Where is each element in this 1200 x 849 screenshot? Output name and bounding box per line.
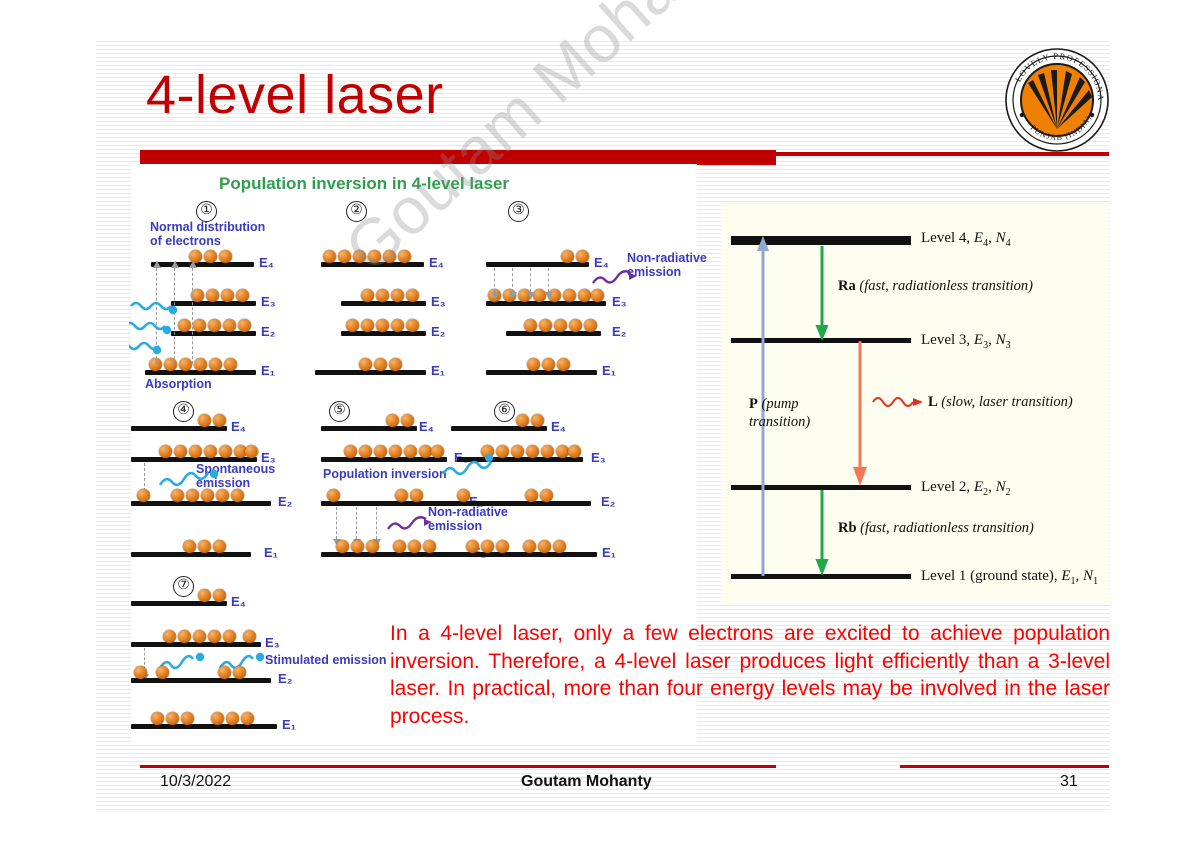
- level-label-E1: E₁: [602, 545, 616, 560]
- level4-label: Level 4, E4, N4: [921, 230, 1011, 249]
- level-label-E1: E₁: [264, 545, 278, 560]
- panel-number-6: ⑥: [494, 401, 515, 422]
- panel5-annotation-non-radiative: Non-radiativeemission: [428, 505, 508, 534]
- level-label-E3: E₃: [591, 450, 606, 465]
- slide: 4-level laser LOVELY PROF: [0, 0, 1200, 849]
- level-label-E4: E₄: [231, 594, 246, 609]
- level-label-E3: E₃: [612, 294, 627, 309]
- level3-bar: [731, 338, 911, 343]
- energy-bar-E4: [151, 262, 254, 267]
- panel-number-3: ③: [508, 201, 529, 222]
- level-label-E4: E₄: [429, 255, 444, 270]
- energy-bar-E4: [131, 601, 227, 606]
- footer-rule-right: [900, 765, 1109, 768]
- four-level-energy-diagram: Level 4, E4, N4 Level 3, E3, N3 Level 2,…: [721, 202, 1109, 604]
- level2-bar: [731, 485, 911, 490]
- panel1-annotation-normal-distribution: Normal distributionof electrons: [150, 220, 265, 249]
- energy-bar-E4: [131, 426, 227, 431]
- absorption-photon-arrows: [129, 294, 207, 374]
- level-label-E2: E₂: [601, 494, 615, 509]
- energy-bar-E2: [131, 678, 271, 683]
- panel-number-5: ⑤: [329, 401, 350, 422]
- panel5-annotation-population-inversion: Population inversion: [323, 467, 447, 481]
- energy-bar-E1: [131, 724, 277, 729]
- level-label-E3: E₃: [265, 635, 280, 650]
- level-label-E4: E₄: [419, 419, 434, 434]
- level-label-E3: E₃: [431, 294, 446, 309]
- non-radiative-arrow: [386, 513, 434, 535]
- page-title: 4-level laser: [146, 68, 444, 122]
- level-label-E4: E₄: [551, 419, 566, 434]
- level-label-E2: E₂: [278, 494, 292, 509]
- title-underline-thick: [140, 150, 776, 165]
- energy-bar-E4: [321, 426, 417, 431]
- level-label-E3: E₃: [261, 294, 276, 309]
- level-label-E4: E₄: [259, 255, 274, 270]
- transition-label-laser: L (slow, laser transition): [928, 394, 1073, 411]
- energy-bar-E2: [451, 501, 591, 506]
- footer-date: 10/3/2022: [160, 773, 231, 791]
- footer-rule-left: [140, 765, 776, 768]
- explanatory-paragraph: In a 4-level laser, only a few electrons…: [390, 620, 1110, 731]
- level-label-E4: E₄: [231, 419, 246, 434]
- level2-label: Level 2, E2, N2: [921, 479, 1011, 498]
- energy-bar-E4: [451, 426, 547, 431]
- level-label-E2: E₂: [612, 324, 626, 339]
- transition-label-rb: Rb (fast, radiationless transition): [838, 520, 1034, 537]
- energy-bar-E3: [131, 642, 261, 647]
- panel-number-7: ⑦: [173, 576, 194, 597]
- footer-page-number: 31: [1060, 773, 1078, 791]
- level-label-E2: E₂: [431, 324, 445, 339]
- level-label-E1: E₁: [282, 717, 296, 732]
- panel1-annotation-absorption: Absorption: [145, 377, 212, 391]
- level3-label: Level 3, E3, N3: [921, 332, 1011, 351]
- level4-bar: [731, 236, 911, 245]
- transition-label-pump: P (pumptransition): [749, 395, 810, 431]
- university-logo: LOVELY PROFESSIONAL UNIVERSITY PUNJAB (I…: [1004, 47, 1110, 153]
- panel7-annotation-stimulated: Stimulated emission: [265, 653, 387, 667]
- energy-bar-E3: [321, 457, 447, 462]
- level-label-E1: E₁: [602, 363, 616, 378]
- energy-bar-E3: [486, 301, 606, 306]
- energy-bar-E1: [315, 370, 426, 375]
- level-label-E1: E₁: [431, 363, 445, 378]
- level-label-E2: E₂: [261, 324, 275, 339]
- transition-label-ra: Ra (fast, radiationless transition): [838, 278, 1033, 295]
- non-radiative-arrow: [591, 267, 639, 289]
- panel-number-1: ①: [196, 201, 217, 222]
- footer-author: Goutam Mohanty: [521, 773, 652, 791]
- incident-photon-arrow: [441, 452, 497, 480]
- panel-number-4: ④: [173, 401, 194, 422]
- energy-bar-E2: [131, 501, 271, 506]
- panel-number-2: ②: [346, 201, 367, 222]
- level-label-E2: E₂: [278, 671, 292, 686]
- energy-bar-E4: [486, 262, 589, 267]
- energy-bar-E2: [506, 331, 601, 336]
- level1-label: Level 1 (ground state), E1, N1: [921, 568, 1098, 587]
- energy-bar-E1: [486, 370, 597, 375]
- level1-bar: [731, 574, 911, 579]
- level-label-E1: E₁: [261, 363, 275, 378]
- figure-caption: Population inversion in 4-level laser: [219, 174, 509, 194]
